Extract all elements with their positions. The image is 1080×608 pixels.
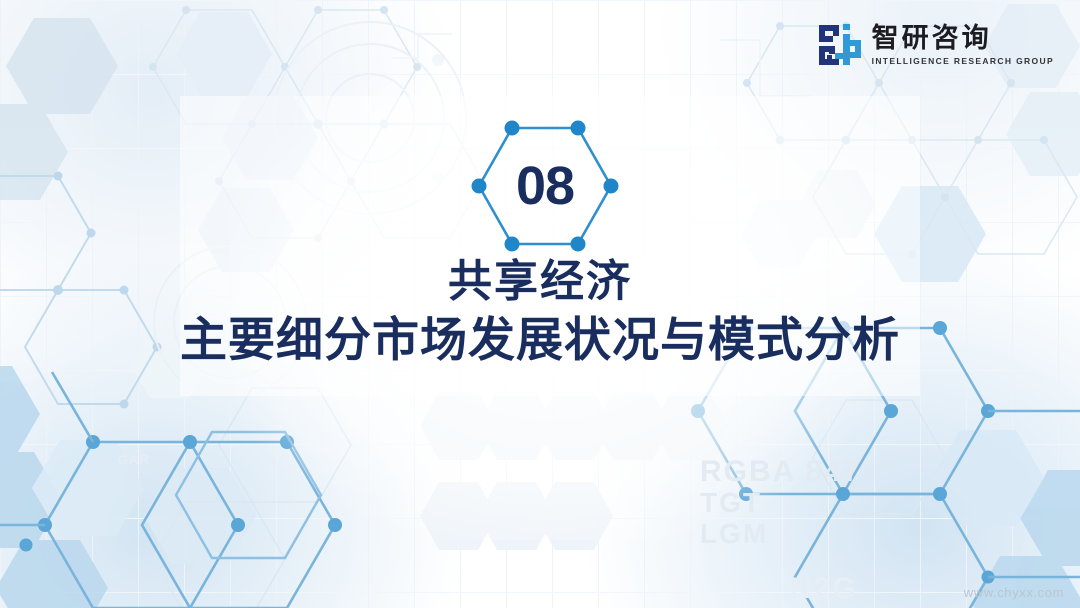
brand-name-en: INTELLIGENCE RESEARCH GROUP — [872, 56, 1054, 66]
brand-name-cn: 智研咨询 — [872, 24, 1054, 52]
background-text-n2g: N2G — [790, 572, 858, 606]
brand-logo-text: 智研咨询 INTELLIGENCE RESEARCH GROUP — [872, 24, 1054, 65]
background-text-tgt: TGT — [700, 487, 762, 519]
title-line-primary: 共享经济 — [0, 256, 1080, 308]
presentation-slide: RGBA 847 TGT LGM N2G GAR 08 共享经济 主要细分市场发… — [0, 0, 1080, 608]
brand-logo: 智研咨询 INTELLIGENCE RESEARCH GROUP — [817, 22, 1054, 68]
background-text-gar: GAR — [118, 452, 150, 467]
title-line-secondary: 主要细分市场发展状况与模式分析 — [0, 312, 1080, 367]
site-watermark: www.chyxx.com — [964, 585, 1064, 600]
background-text-rgba: RGBA 847 — [700, 455, 862, 489]
brand-logo-mark-icon — [817, 22, 863, 68]
slide-title: 共享经济 主要细分市场发展状况与模式分析 — [0, 256, 1080, 367]
section-number-text: 08 — [470, 118, 620, 254]
background-text-lgm: LGM — [700, 518, 768, 550]
section-number-badge: 08 — [470, 118, 620, 254]
